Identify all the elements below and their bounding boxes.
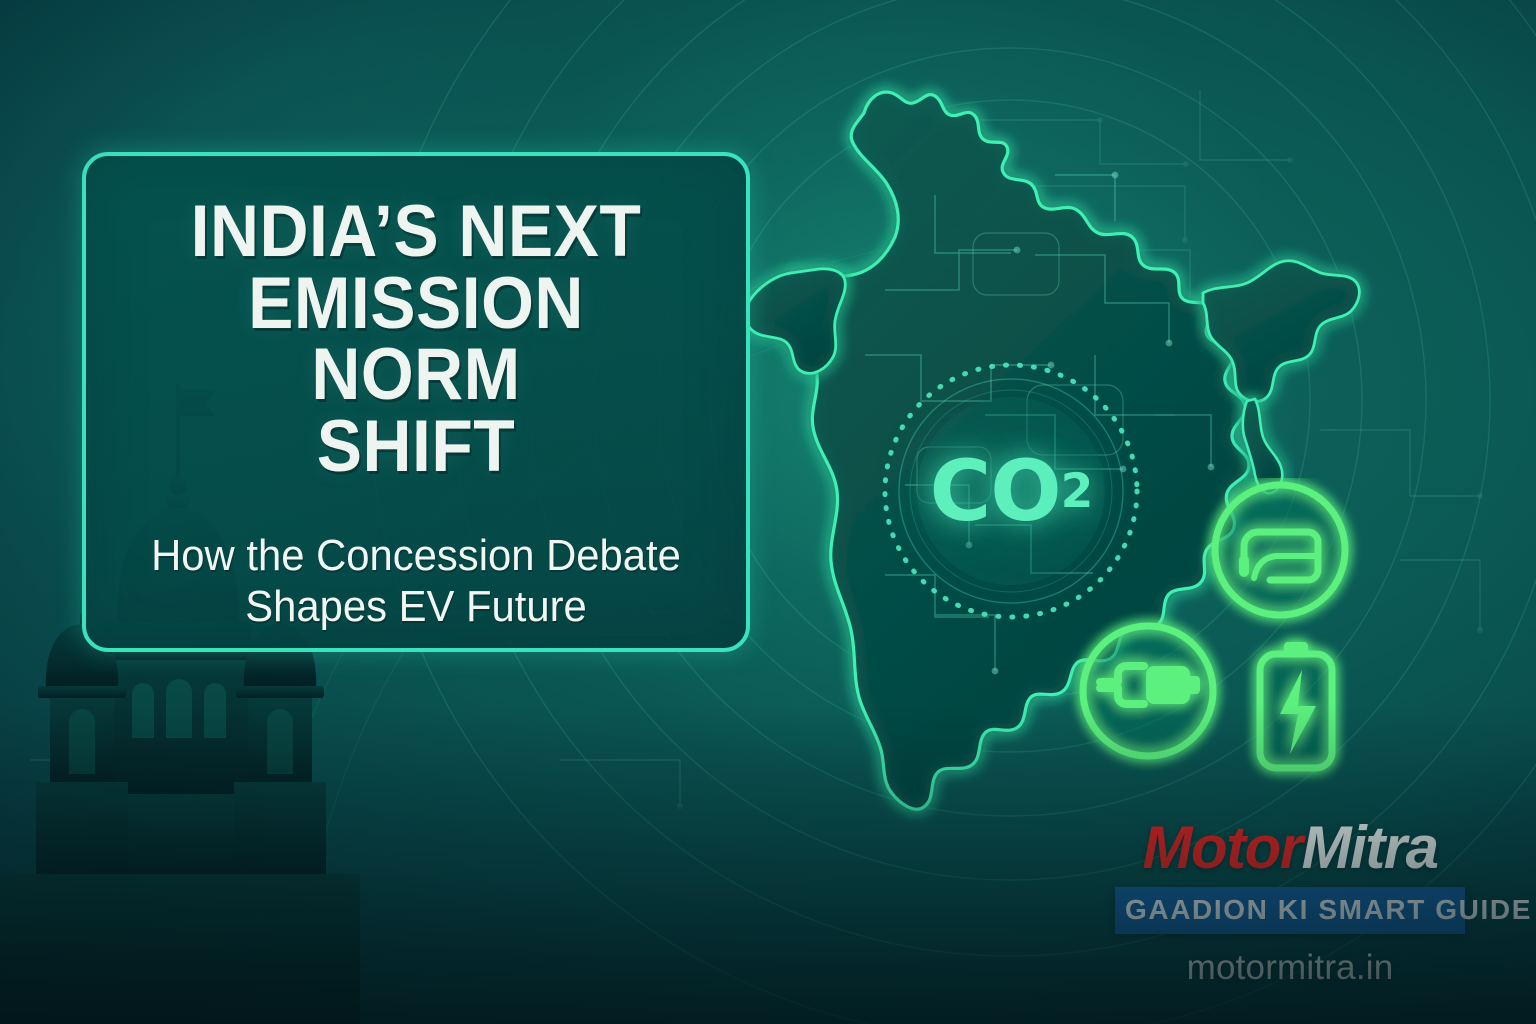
poster-canvas: CO2 [0,0,1536,1024]
charging-nozzle-icon [1215,485,1345,615]
title-card: INDIA’S NEXT EMISSION NORM SHIFT How the… [82,152,750,652]
brand-website[interactable]: motormitra.in [1115,948,1465,988]
ev-plug-icon [1083,626,1213,756]
brand-logo-wordmark: MotorMitra [1115,818,1465,878]
co2-dotted-ring-icon [878,358,1144,624]
brand-name-second: Mitra [1302,814,1438,881]
page-title: INDIA’S NEXT EMISSION NORM SHIFT [141,196,692,482]
ev-icon-cluster [1058,478,1398,808]
brand-block: MotorMitra GAADION KI SMART GUIDE motorm… [1115,818,1465,988]
co2-main-text: CO [930,442,1061,540]
page-subtitle: How the Concession Debate Shapes EV Futu… [135,530,697,632]
battery-charging-icon [1260,642,1332,768]
ev-icons-svg [1058,478,1398,808]
brand-name-first: Motor [1143,814,1302,881]
india-map [735,55,1415,845]
co2-label: CO2 [878,358,1144,624]
india-map-outline-icon [735,55,1415,845]
co2-badge: CO2 [878,358,1144,624]
brand-tagline-bar: GAADION KI SMART GUIDE [1115,887,1465,934]
co2-subscript-text: 2 [1061,464,1093,519]
